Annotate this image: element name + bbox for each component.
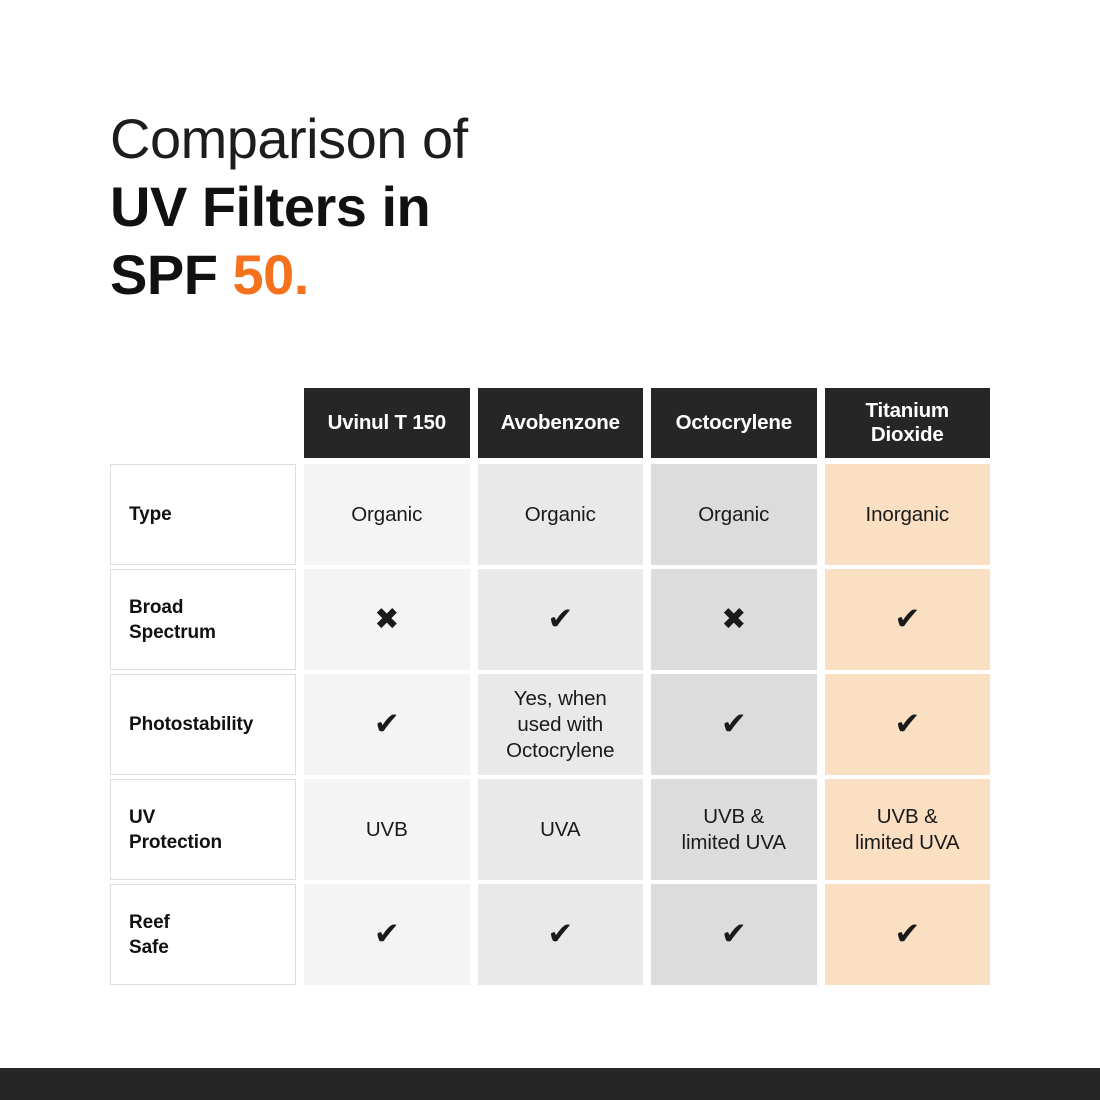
column-header-octocrylene: Octocrylene — [651, 388, 817, 458]
column-header-uvinul-t-150: Uvinul T 150 — [304, 388, 470, 458]
row-label-uv-protection: UV Protection — [110, 779, 296, 880]
row-label-photostability: Photostability — [110, 674, 296, 775]
cell-photostability-avobenzone: Yes, when used with Octocrylene — [478, 674, 644, 775]
column-header-avobenzone: Avobenzone — [478, 388, 644, 458]
check-icon: ✔ — [894, 604, 920, 635]
cell-broad-spectrum-titanium-dioxide: ✔ — [825, 569, 991, 670]
cell-broad-spectrum-avobenzone: ✔ — [478, 569, 644, 670]
table-row: Broad Spectrum ✖ ✔ ✖ ✔ — [110, 569, 990, 670]
cell-reef-safe-avobenzone: ✔ — [478, 884, 644, 985]
row-label-broad-spectrum: Broad Spectrum — [110, 569, 296, 670]
comparison-table: Uvinul T 150 Avobenzone Octocrylene Tita… — [110, 388, 990, 985]
title-line-comparison: Comparison of — [110, 105, 870, 173]
footer-bar — [0, 1068, 1100, 1100]
table-header-row: Uvinul T 150 Avobenzone Octocrylene Tita… — [110, 388, 990, 458]
cell-type-octocrylene: Organic — [651, 464, 817, 565]
check-icon: ✔ — [894, 919, 920, 950]
title-line-spf: SPF 50. — [110, 241, 870, 309]
table-row: Type Organic Organic Organic Inorganic — [110, 464, 990, 565]
cell-type-titanium-dioxide: Inorganic — [825, 464, 991, 565]
check-icon: ✔ — [547, 919, 573, 950]
check-icon: ✔ — [374, 709, 400, 740]
cross-icon: ✖ — [721, 604, 746, 635]
table-row: Photostability ✔ Yes, when used with Oct… — [110, 674, 990, 775]
table-row: UV Protection UVB UVA UVB & limited UVA … — [110, 779, 990, 880]
cell-type-avobenzone: Organic — [478, 464, 644, 565]
cell-photostability-uvinul-t-150: ✔ — [304, 674, 470, 775]
cell-uv-protection-avobenzone: UVA — [478, 779, 644, 880]
infographic-page: Comparison of UV Filters in SPF 50. Uvin… — [0, 0, 1100, 1100]
cross-icon: ✖ — [374, 604, 399, 635]
title-spf-prefix: SPF — [110, 243, 232, 306]
cell-uv-protection-titanium-dioxide: UVB & limited UVA — [825, 779, 991, 880]
cell-broad-spectrum-uvinul-t-150: ✖ — [304, 569, 470, 670]
check-icon: ✔ — [721, 919, 747, 950]
row-label-type: Type — [110, 464, 296, 565]
title-line-uv-filters: UV Filters in — [110, 173, 870, 241]
title-spf-value: 50. — [232, 243, 308, 306]
table-corner-cell — [110, 388, 296, 458]
row-label-reef-safe: Reef Safe — [110, 884, 296, 985]
cell-broad-spectrum-octocrylene: ✖ — [651, 569, 817, 670]
cell-photostability-octocrylene: ✔ — [651, 674, 817, 775]
cell-reef-safe-octocrylene: ✔ — [651, 884, 817, 985]
cell-uv-protection-octocrylene: UVB & limited UVA — [651, 779, 817, 880]
page-title: Comparison of UV Filters in SPF 50. — [110, 105, 870, 309]
cell-reef-safe-uvinul-t-150: ✔ — [304, 884, 470, 985]
cell-reef-safe-titanium-dioxide: ✔ — [825, 884, 991, 985]
check-icon: ✔ — [721, 709, 747, 740]
cell-uv-protection-uvinul-t-150: UVB — [304, 779, 470, 880]
check-icon: ✔ — [894, 709, 920, 740]
cell-photostability-titanium-dioxide: ✔ — [825, 674, 991, 775]
table-row: Reef Safe ✔ ✔ ✔ ✔ — [110, 884, 990, 985]
check-icon: ✔ — [374, 919, 400, 950]
check-icon: ✔ — [547, 604, 573, 635]
column-header-titanium-dioxide: Titanium Dioxide — [825, 388, 991, 458]
cell-type-uvinul-t-150: Organic — [304, 464, 470, 565]
